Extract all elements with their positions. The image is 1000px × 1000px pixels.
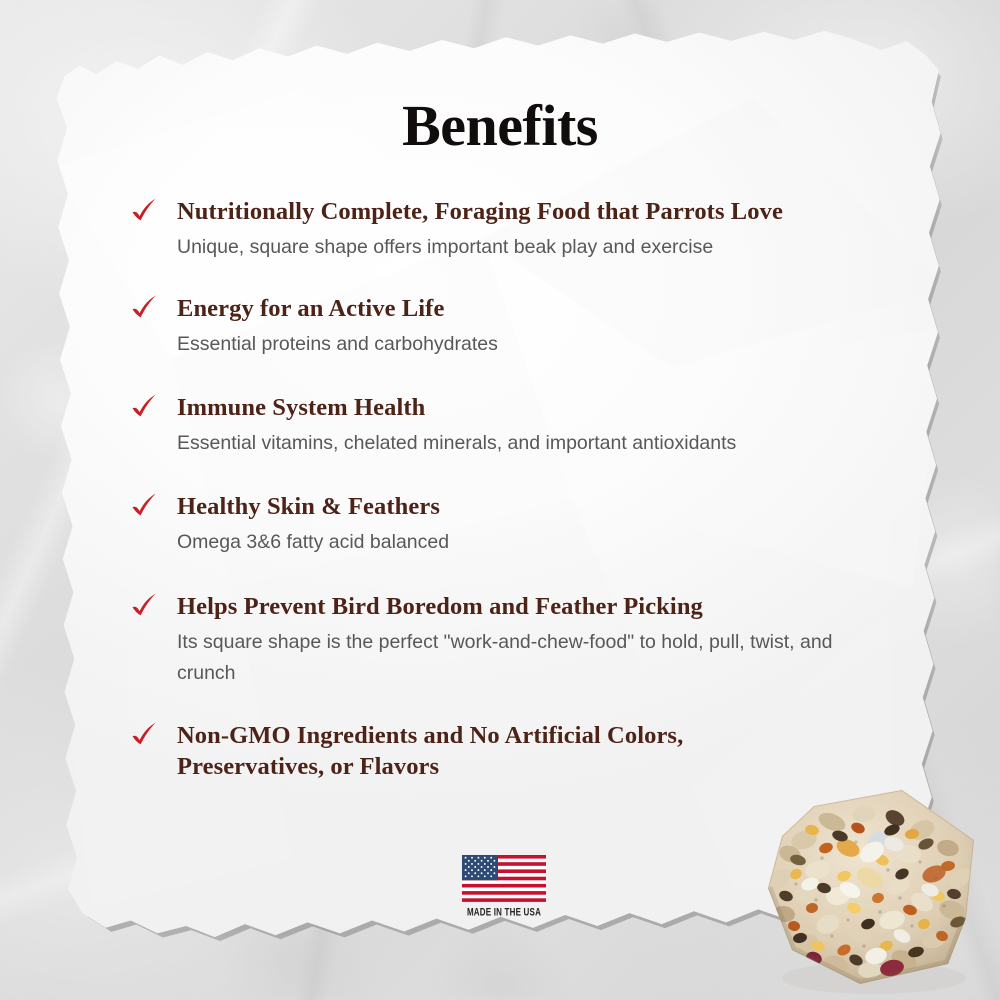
usa-flag-icon — [462, 855, 546, 902]
benefit-item: Energy for an Active Life Essential prot… — [130, 293, 900, 361]
benefit-item: Nutritionally Complete, Foraging Food th… — [130, 196, 900, 264]
check-icon — [130, 592, 160, 622]
page-title: Benefits — [0, 97, 1000, 155]
benefit-heading: Immune System Health — [177, 392, 900, 423]
benefit-subtext: Essential proteins and carbohydrates — [177, 329, 877, 361]
bird-food-square-photo — [752, 778, 990, 994]
benefit-subtext: Its square shape is the perfect "work-an… — [177, 627, 857, 690]
benefit-heading: Nutritionally Complete, Foraging Food th… — [177, 196, 900, 227]
benefit-subtext: Omega 3&6 fatty acid balanced — [177, 527, 877, 559]
benefit-subtext: Unique, square shape offers important be… — [177, 232, 877, 264]
check-icon — [130, 197, 160, 227]
benefit-item: Helps Prevent Bird Boredom and Feather P… — [130, 591, 900, 690]
made-in-usa-badge: MADE IN THE USA — [462, 855, 546, 915]
benefit-item: Healthy Skin & Feathers Omega 3&6 fatty … — [130, 491, 900, 559]
benefit-heading: Non-GMO Ingredients and No Artificial Co… — [177, 720, 757, 782]
check-icon — [130, 393, 160, 423]
badge-caption: MADE IN THE USA — [462, 906, 546, 918]
benefit-item: Non-GMO Ingredients and No Artificial Co… — [130, 720, 900, 782]
check-icon — [130, 294, 160, 324]
benefit-subtext: Essential vitamins, chelated minerals, a… — [177, 428, 877, 460]
check-icon — [130, 492, 160, 522]
benefit-item: Immune System Health Essential vitamins,… — [130, 392, 900, 460]
benefits-infographic: Benefits Nutritionally Complete, Foragin… — [0, 0, 1000, 1000]
benefit-heading: Helps Prevent Bird Boredom and Feather P… — [177, 591, 900, 622]
benefit-heading: Energy for an Active Life — [177, 293, 900, 324]
benefit-heading: Healthy Skin & Feathers — [177, 491, 900, 522]
benefits-list: Nutritionally Complete, Foraging Food th… — [130, 196, 900, 787]
check-icon — [130, 721, 160, 751]
